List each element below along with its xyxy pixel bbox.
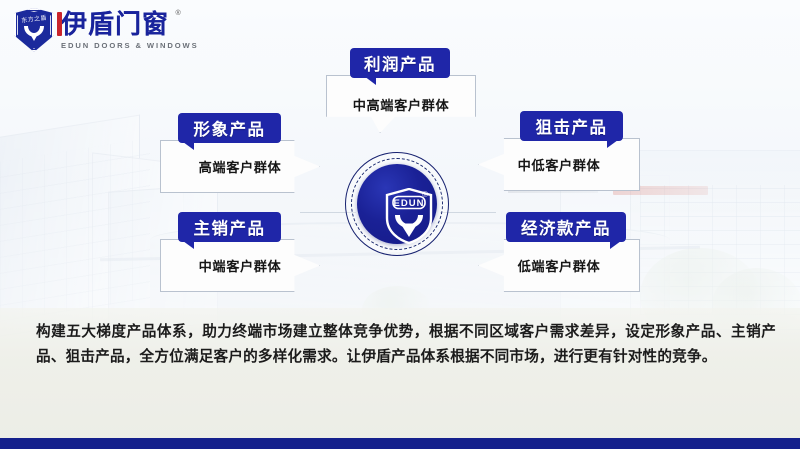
brand-wordmark: 伊盾门窗 ® EDUN DOORS & WINDOWS: [61, 10, 199, 50]
brand-red-bar: [57, 12, 62, 36]
center-emblem: EDUN ®: [345, 152, 449, 256]
callout-title-badge: 利润产品: [350, 48, 450, 78]
brand-logo: 东方之盾 伊盾门窗 ® EDUN DOORS & WINDOWS: [14, 8, 199, 52]
bull-head-icon: [23, 25, 45, 43]
callout-subtitle-box: 中高端客户群体: [326, 75, 476, 133]
callout-economy-product[interactable]: 经济款产品 低端客户群体: [478, 212, 640, 292]
emblem-registered-mark-icon: ®: [422, 190, 428, 199]
bottom-accent-bar: [0, 438, 800, 449]
callout-image-product[interactable]: 形象产品 高端客户群体: [160, 113, 320, 193]
callout-sniper-product[interactable]: 狙击产品 中低客户群体: [478, 111, 640, 191]
callout-title-badge: 主销产品: [178, 212, 281, 242]
callout-title-badge: 形象产品: [178, 113, 281, 143]
brand-name-cn: 伊盾门窗: [61, 9, 169, 39]
emblem-blue-disc: EDUN ®: [357, 164, 437, 244]
shield-logo-icon: 东方之盾: [14, 8, 54, 52]
callout-main-selling-product[interactable]: 主销产品 中端客户群体: [160, 212, 320, 292]
callout-title-badge: 狙击产品: [520, 111, 623, 141]
slide-root: 东方之盾 伊盾门窗 ® EDUN DOORS & WINDOWS EDUN: [0, 0, 800, 449]
brand-name-en: EDUN DOORS & WINDOWS: [61, 41, 199, 50]
callout-profit-product[interactable]: 利润产品 中高端客户群体: [326, 48, 476, 133]
callout-title-badge: 经济款产品: [506, 212, 626, 242]
svg-text:EDUN: EDUN: [394, 198, 425, 209]
registered-mark-icon: ®: [175, 10, 180, 17]
description-text: 构建五大梯度产品体系，助力终端市场建立整体竞争优势，根据不同区域客户需求差异，设…: [36, 320, 776, 370]
